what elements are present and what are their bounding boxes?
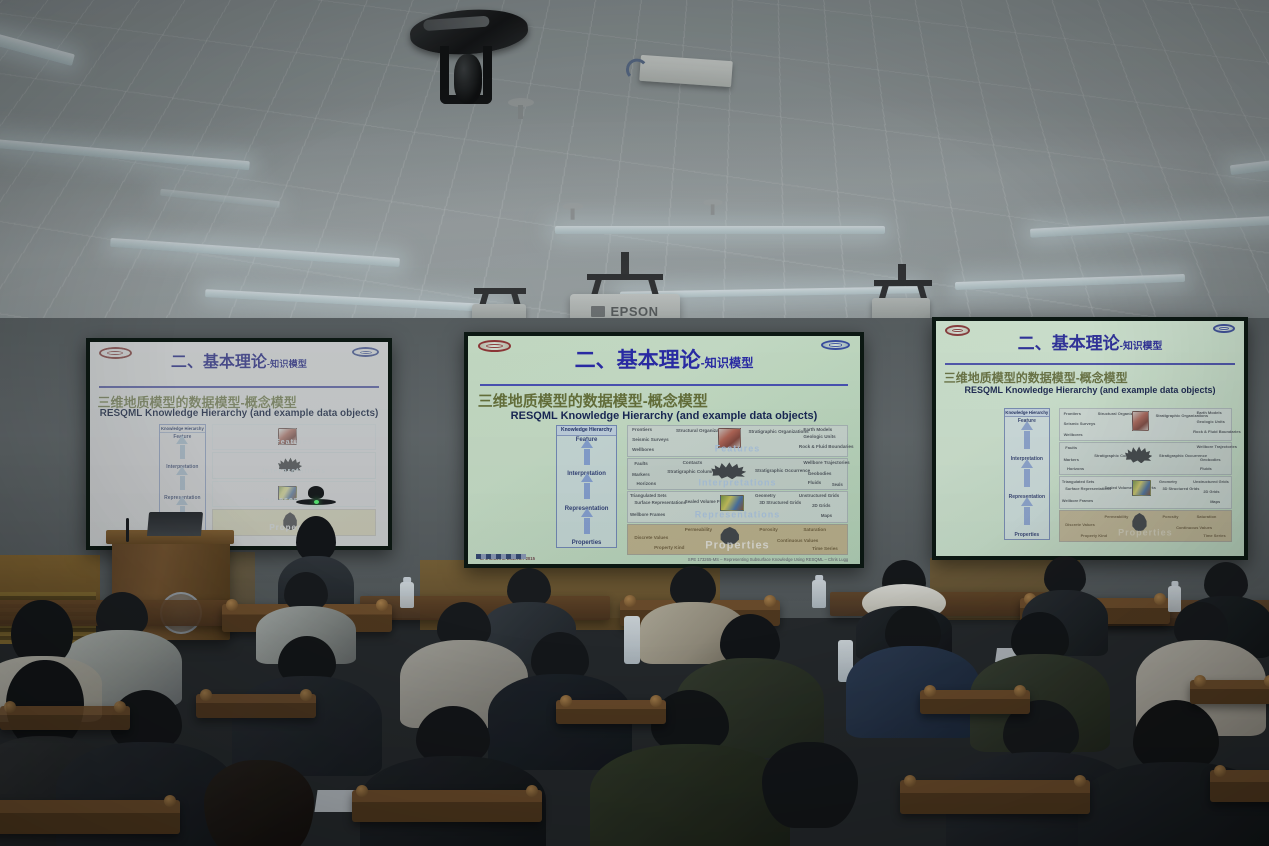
band-feature: Frontiers Seismic Surveys Wellbores Stru…	[1059, 408, 1231, 441]
band-label: Permeability	[1105, 514, 1129, 519]
band-label: Saturation	[1197, 514, 1217, 519]
representation-thumbnail	[720, 495, 744, 511]
slide-title: 二、基本理论-知识模型	[468, 344, 860, 374]
hierarchy-arrow-icon	[1024, 469, 1030, 487]
slide-heading-en: RESQML Knowledge Hierarchy (and example …	[936, 385, 1244, 395]
band-label: Frontiers	[632, 427, 652, 432]
band-label: 3D Structured Grids	[759, 500, 801, 505]
band-label: Earth Models	[1197, 410, 1222, 415]
band-label: Contacts	[683, 460, 703, 465]
band-label: 2D Grids	[1203, 489, 1219, 494]
bench-seat	[900, 780, 1090, 814]
title-divider	[99, 386, 379, 388]
band-label: Rock & Fluid Boundaries	[1193, 429, 1241, 434]
band-label: Triangulated Sets	[630, 493, 667, 498]
hierarchy-level-properties: Properties	[557, 540, 616, 546]
band-watermark-features: Features	[628, 444, 847, 454]
band-label: Maps	[1210, 499, 1220, 504]
band-label: Wellbore Trajectories	[1197, 444, 1237, 449]
band-watermark-representations: Representations	[213, 497, 375, 504]
slide-heading-cn: 三维地质模型的数据模型-概念模型	[944, 369, 1128, 386]
right-slide-content: 二、基本理论-知识模型 三维地质模型的数据模型-概念模型 RESQML Know…	[936, 321, 1244, 556]
slide-header: 二、基本理论-知识模型	[936, 321, 1244, 373]
hierarchy-levels: Feature Interpretation Representation Pr…	[1005, 417, 1049, 539]
hierarchy-levels: Feature Interpretation Representation Pr…	[557, 436, 616, 547]
podium-laptop	[147, 512, 203, 536]
presenter-camera-unit	[296, 486, 336, 512]
band-label: Stratigraphic Column	[667, 469, 714, 474]
band-label: Horizons	[1067, 466, 1084, 471]
band-representation: Representations	[212, 481, 376, 508]
band-feature: Frontiers Seismic Surveys Wellbores Stru…	[627, 425, 848, 457]
bench-seat	[0, 706, 130, 730]
band-label: Markers	[1064, 457, 1079, 462]
slide-title-main: 二、基本理论	[171, 354, 267, 371]
hierarchy-header: Knowledge Hierarchy	[557, 426, 616, 436]
band-label: Stratigraphic Organizations	[748, 429, 808, 434]
center-slide-content: 二、基本理论-知识模型 三维地质模型的数据模型-概念模型 RESQML Know…	[468, 336, 860, 564]
band-label: Wellbores	[1064, 432, 1083, 437]
hierarchy-arrow-icon	[180, 476, 185, 490]
band-label: Geologic Units	[1197, 419, 1225, 424]
slide-title-sub: -知识模型	[701, 356, 754, 370]
audience-member	[164, 760, 354, 846]
band-label: Permeability	[685, 527, 712, 532]
slide-header: 二、基本理论-知识模型	[90, 342, 388, 387]
ceiling-shading	[0, 0, 1269, 340]
bench-seat	[556, 700, 666, 724]
interpretation-thumbnail	[1125, 445, 1152, 463]
hierarchy-arrow-icon	[1024, 507, 1030, 525]
slide-title: 二、基本理论-知识模型	[90, 348, 388, 372]
person-head	[204, 760, 314, 846]
ceiling: EPSON	[0, 0, 1269, 340]
band-properties: Permeability Discrete Values Property Ki…	[627, 524, 848, 555]
interpretation-thumbnail	[711, 461, 746, 479]
person-head	[762, 742, 858, 828]
title-divider	[480, 384, 849, 386]
slide-title: 二、基本理论-知识模型	[936, 329, 1244, 354]
audience-member	[720, 742, 900, 846]
band-label: Porosity	[1162, 514, 1178, 519]
hierarchy-header: Knowledge Hierarchy	[160, 425, 206, 433]
band-label: Geobodies	[808, 471, 832, 476]
band-interpretation: Faults Markers Horizons Stratigraphic Co…	[1059, 442, 1231, 475]
slide-heading-cn: 三维地质模型的数据模型-概念模型	[478, 390, 708, 411]
band-label: Faults	[1065, 445, 1077, 450]
bench-seat	[0, 800, 180, 834]
band-label: Geometry	[1159, 479, 1177, 484]
slide-title-sub: -知识模型	[267, 359, 307, 369]
hierarchy-arrow-icon	[584, 483, 590, 499]
band-label: Unstructured Grids	[799, 493, 839, 498]
band-label: 3D Structured Grids	[1162, 486, 1199, 491]
band-label: Saturation	[803, 527, 826, 532]
camera-status-led-icon	[314, 500, 319, 504]
podium-microphone-icon	[126, 518, 129, 542]
band-interpretation: Interpretations	[212, 452, 376, 479]
slide-header: 二、基本理论-知识模型	[468, 336, 860, 386]
representation-thumbnail	[1132, 480, 1151, 496]
slide-title-sub: -知识模型	[1120, 341, 1163, 352]
band-label: Wellbore Trajectories	[803, 460, 849, 465]
band-label: Fluids	[1200, 466, 1212, 471]
band-watermark-interpretations: Interpretations	[213, 468, 375, 475]
bench-seat	[196, 694, 316, 718]
band-label: 2D Grids	[812, 503, 830, 508]
hierarchy-arrow-icon	[584, 449, 590, 465]
band-representation: Triangulated Sets Surface Representation…	[627, 491, 848, 523]
band-watermark-properties: Properties	[1060, 527, 1230, 537]
band-label: Porosity	[759, 527, 777, 532]
slide-footer-right: SPE 173265-MS – Representing Subsurface …	[688, 557, 848, 562]
audience-member	[360, 706, 546, 846]
band-interpretation: Faults Markers Horizons Contacts Stratig…	[627, 458, 848, 490]
feature-thumbnail	[1132, 411, 1149, 431]
lecture-hall-scene: EPSON 二、基本理论-知识模型	[0, 0, 1269, 846]
slide-title-main: 二、基本理论	[575, 349, 701, 372]
band-label: Stratigraphic Occurrence	[755, 468, 810, 473]
slide-title-main: 二、基本理论	[1018, 334, 1120, 353]
band-watermark-interpretations: Interpretations	[628, 478, 847, 488]
band-label: Seismic Surveys	[1064, 421, 1096, 426]
bench-seat	[920, 690, 1030, 714]
band-label: Geometry	[755, 493, 776, 498]
band-label: Earth Models	[803, 427, 832, 432]
bench-seat	[1190, 680, 1269, 704]
hierarchy-arrow-icon	[584, 518, 590, 534]
title-divider	[945, 363, 1235, 365]
hierarchy-arrow-icon	[1024, 431, 1030, 449]
band-watermark-properties: Properties	[628, 539, 847, 551]
water-bottle	[812, 580, 826, 608]
slide-heading-en: RESQML Knowledge Hierarchy (and example …	[468, 410, 860, 422]
band-label: Triangulated Sets	[1062, 479, 1094, 484]
band-label: Wellbore Frames	[1062, 498, 1093, 503]
bench-seat	[352, 790, 542, 822]
band-label: Geologic Units	[803, 434, 835, 439]
band-label: Frontiers	[1064, 411, 1081, 416]
footer-flag-strip	[476, 554, 526, 559]
right-projection-screen[interactable]: 二、基本理论-知识模型 三维地质模型的数据模型-概念模型 RESQML Know…	[932, 317, 1248, 560]
slide-heading-en: RESQML Knowledge Hierarchy (and example …	[90, 408, 388, 419]
hierarchy-header: Knowledge Hierarchy	[1005, 409, 1049, 417]
band-label: Seismic Surveys	[632, 437, 669, 442]
band-properties: Permeability Discrete Values Property Ki…	[1059, 510, 1231, 542]
slide-footer: SPE DIGITAL ENERGY 2015 SPE 173265-MS – …	[468, 557, 860, 562]
hierarchy-arrow-icon	[180, 445, 185, 459]
knowledge-hierarchy-column: Knowledge Hierarchy Feature Interpretati…	[1004, 408, 1050, 540]
band-feature: Features	[212, 424, 376, 451]
band-representation: Triangulated Sets Surface Representation…	[1059, 476, 1231, 509]
band-label: Unstructured Grids	[1193, 479, 1229, 484]
knowledge-hierarchy-column: Knowledge Hierarchy Feature Interpretati…	[556, 425, 617, 548]
band-label: Faults	[634, 461, 648, 466]
band-label: Geobodies	[1200, 457, 1221, 462]
bench-seat	[1210, 770, 1269, 802]
hierarchy-level-properties: Properties	[1005, 532, 1049, 538]
band-label: Markers	[632, 472, 650, 477]
band-watermark-features: Features	[213, 439, 375, 446]
center-projection-screen[interactable]: 二、基本理论-知识模型 三维地质模型的数据模型-概念模型 RESQML Know…	[464, 332, 864, 568]
band-watermark-representations: Representations	[628, 510, 847, 520]
band-label: Surface Representations	[634, 500, 686, 505]
camera-head-icon	[308, 486, 324, 499]
